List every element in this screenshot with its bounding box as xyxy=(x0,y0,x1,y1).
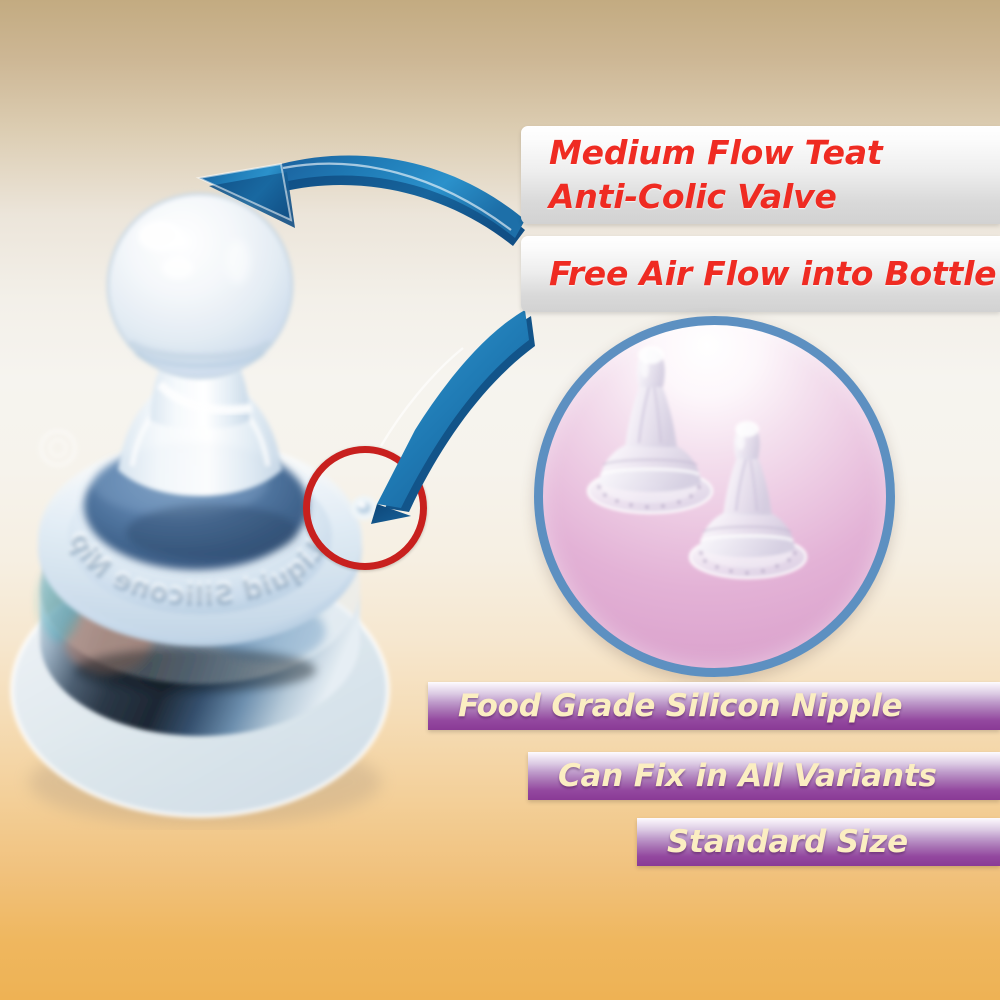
arrow-to-teat xyxy=(199,156,525,246)
banner-standard-size: Standard Size xyxy=(637,818,1000,866)
banner-label: Can Fix in All Variants xyxy=(528,761,937,792)
nipple-pair-inset xyxy=(534,316,895,677)
infographic-canvas: Liquid Silicone Nipple Liquid Silicone N… xyxy=(0,0,1000,1000)
banner-food-grade-silicon-nipple: Food Grade Silicon Nipple xyxy=(428,682,1000,730)
banner-label: Standard Size xyxy=(637,827,908,858)
banner-line: Medium Flow Teat xyxy=(549,131,1000,175)
banner-free-air-flow: Free Air Flow into Bottle xyxy=(521,236,1000,312)
banner-can-fix-in-all-variants: Can Fix in All Variants xyxy=(528,752,1000,800)
teat-large xyxy=(588,346,712,513)
arrow-to-valve xyxy=(371,310,535,524)
banner-line: Anti-Colic Valve xyxy=(549,175,1000,219)
callout-arrows xyxy=(195,120,535,540)
banner-label: Food Grade Silicon Nipple xyxy=(428,691,902,722)
banner-line: Free Air Flow into Bottle xyxy=(549,252,1000,296)
banner-medium-flow-teat: Medium Flow Teat Anti-Colic Valve xyxy=(521,126,1000,224)
